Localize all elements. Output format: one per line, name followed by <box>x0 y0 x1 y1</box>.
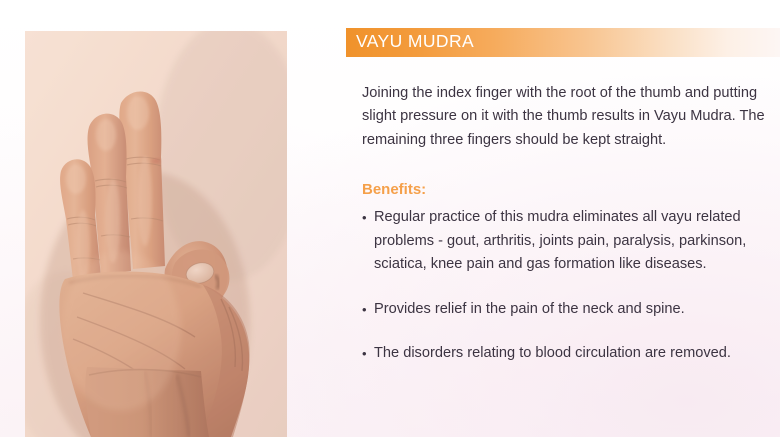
intro-paragraph: Joining the index finger with the root o… <box>362 82 766 153</box>
benefits-heading: Benefits: <box>362 181 426 198</box>
page-root: VAYU MUDRA Joining the index finger with… <box>0 0 780 437</box>
page-title: VAYU MUDRA <box>356 31 474 52</box>
vayu-mudra-photo <box>25 31 287 437</box>
hand-illustration <box>25 31 287 437</box>
benefits-list: Regular practice of this mudra eliminate… <box>362 206 772 387</box>
list-item: The disorders relating to blood circulat… <box>362 342 772 366</box>
list-item: Regular practice of this mudra eliminate… <box>362 206 772 277</box>
title-banner: VAYU MUDRA <box>346 28 780 57</box>
list-item: Provides relief in the pain of the neck … <box>362 298 772 322</box>
content-column: VAYU MUDRA Joining the index finger with… <box>346 0 780 437</box>
